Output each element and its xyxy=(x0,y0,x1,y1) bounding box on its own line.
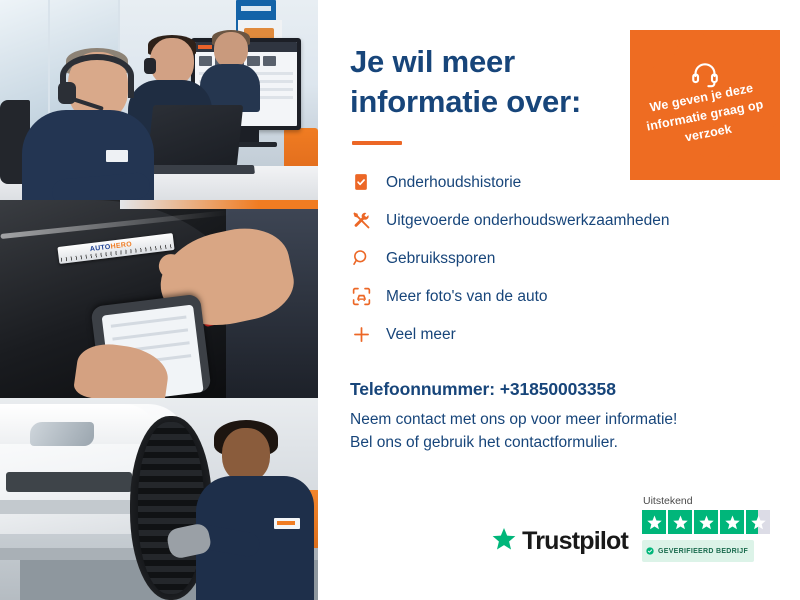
list-item: Meer foto's van de auto xyxy=(350,277,760,315)
car-scan-icon xyxy=(350,285,372,307)
trustpilot-wordmark: Trustpilot xyxy=(522,527,628,556)
list-item-label: Uitgevoerde onderhoudswerkzaamheden xyxy=(386,213,670,229)
page-title: Je wil meer informatie over: xyxy=(350,42,630,121)
star-icon xyxy=(491,526,517,557)
phone-number[interactable]: Telefoonnummer: +31850003358 xyxy=(350,379,760,400)
star-icon xyxy=(642,510,666,534)
plus-icon xyxy=(350,323,372,345)
feature-list: Onderhoudshistorie Uitgevoerde onderhoud… xyxy=(350,163,760,353)
verified-label: GEVERIFIEERD BEDRIJF xyxy=(658,548,748,555)
workshop-photo xyxy=(0,398,318,600)
star-icon xyxy=(694,510,718,534)
title-divider xyxy=(352,141,402,145)
list-item: Uitgevoerde onderhoudswerkzaamheden xyxy=(350,201,760,239)
rating-label: Uitstekend xyxy=(643,495,693,507)
star-icon xyxy=(720,510,744,534)
list-item-label: Meer foto's van de auto xyxy=(386,289,548,305)
magnifier-icon xyxy=(350,247,372,269)
contact-line-2: Bel ons of gebruik het contactformulier. xyxy=(350,432,760,454)
list-item: Veel meer xyxy=(350,315,760,353)
star-icon xyxy=(668,510,692,534)
photo-strip: AUTOHERO xyxy=(0,0,318,600)
checklist-document-icon xyxy=(350,171,372,193)
list-item: Gebruikssporen xyxy=(350,239,760,277)
crossed-tools-icon xyxy=(350,209,372,231)
inspection-photo: AUTOHERO xyxy=(0,200,318,398)
trustpilot-widget[interactable]: Trustpilot Uitstekend GEVERIFIEERD BEDRI… xyxy=(491,495,770,562)
star-icon-half xyxy=(746,510,770,534)
promo-page: AUTOHERO Je wil mee xyxy=(0,0,800,600)
trustpilot-logo: Trustpilot xyxy=(491,526,628,562)
content-panel: Je wil meer informatie over: Onderhoudsh… xyxy=(318,0,800,600)
list-item-label: Veel meer xyxy=(386,327,456,343)
trustpilot-rating: Uitstekend GEVERIFIEERD BEDRIJF xyxy=(642,495,770,562)
promo-badge: We geven je deze informatie graag op ver… xyxy=(630,30,780,180)
call-center-photo xyxy=(0,0,318,200)
list-item-label: Onderhoudshistorie xyxy=(386,175,521,191)
list-item-label: Gebruikssporen xyxy=(386,251,495,267)
status-badge: GEVERIFIEERD BEDRIJF xyxy=(642,540,754,562)
star-rating xyxy=(642,510,770,534)
contact-line-1: Neem contact met ons op voor meer inform… xyxy=(350,409,760,431)
contact-text: Neem contact met ons op voor meer inform… xyxy=(350,409,760,454)
check-circle-icon xyxy=(646,542,654,560)
